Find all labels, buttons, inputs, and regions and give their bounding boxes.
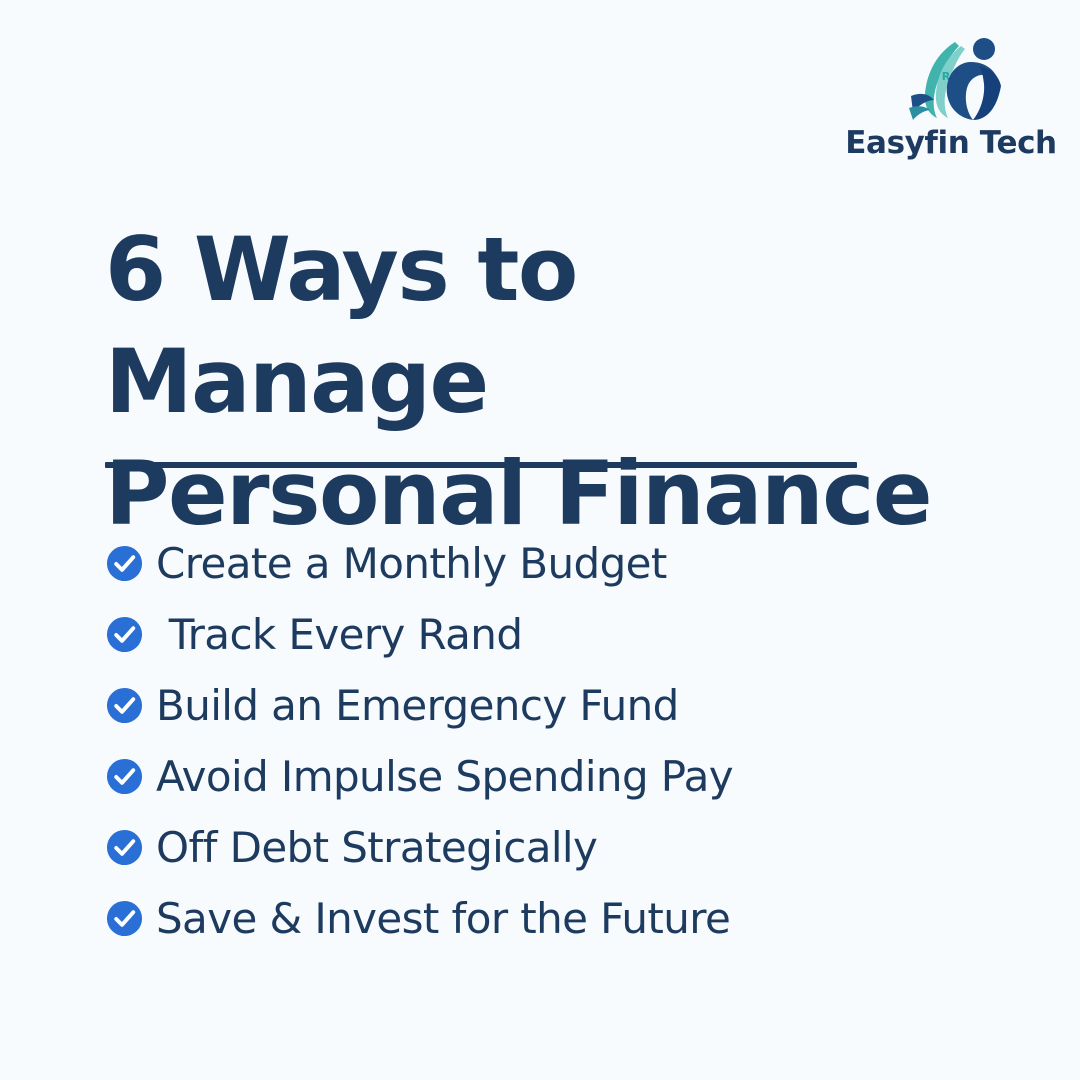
check-circle-icon bbox=[105, 757, 144, 796]
check-circle-icon bbox=[105, 899, 144, 938]
list-item-label: Avoid Impulse Spending Pay bbox=[156, 756, 733, 798]
brand-logo: R Easyfin Tech bbox=[856, 36, 1046, 159]
list-item: Create a Monthly Budget bbox=[105, 528, 965, 599]
check-circle-icon bbox=[105, 544, 144, 583]
list-item-label: Create a Monthly Budget bbox=[156, 543, 667, 585]
check-circle-icon bbox=[105, 828, 144, 867]
list-item: Avoid Impulse Spending Pay bbox=[105, 741, 965, 812]
list-item: Save & Invest for the Future bbox=[105, 883, 965, 954]
person-raising-arms-with-swoosh-icon: R bbox=[899, 36, 1003, 122]
list-item-label: Build an Emergency Fund bbox=[156, 685, 679, 727]
list-item-label: Track Every Rand bbox=[156, 614, 522, 656]
list-item: Off Debt Strategically bbox=[105, 812, 965, 883]
list-item-label: Save & Invest for the Future bbox=[156, 898, 730, 940]
title-divider bbox=[105, 462, 857, 468]
list-item-label: Off Debt Strategically bbox=[156, 827, 597, 869]
page-title: 6 Ways to Manage Personal Finance bbox=[105, 214, 985, 549]
check-circle-icon bbox=[105, 686, 144, 725]
check-circle-icon bbox=[105, 615, 144, 654]
list-item: Build an Emergency Fund bbox=[105, 670, 965, 741]
list-item: Track Every Rand bbox=[105, 599, 965, 670]
brand-name: Easyfin Tech bbox=[845, 128, 1056, 159]
poster-canvas: R Easyfin Tech 6 Ways to Manage Personal… bbox=[0, 0, 1080, 1080]
page-title-line-1: 6 Ways to Manage bbox=[105, 214, 985, 438]
checklist: Create a Monthly Budget Track Every Rand… bbox=[105, 528, 965, 954]
